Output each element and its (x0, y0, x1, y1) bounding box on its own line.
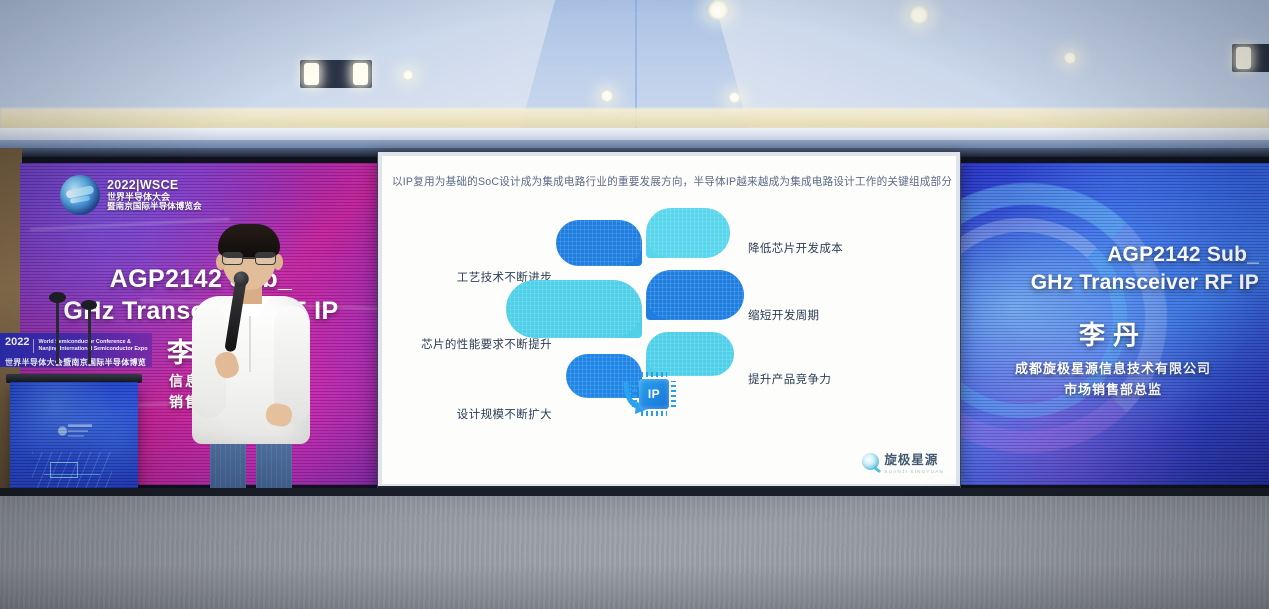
wsce-name-cn2: 暨南京国际半导体博览会 (107, 202, 202, 212)
chip-pins-left (632, 381, 637, 407)
right-banner-org: 成都旋极星源信息技术有限公司 市场销售部总监 (957, 359, 1269, 401)
microphone-stand-2 (88, 308, 91, 364)
led-panel-right: AGP2142 Sub_ GHz Transceiver RF IP 李丹 成都… (957, 163, 1269, 485)
chip-label: IP (639, 379, 669, 409)
ceiling (0, 0, 1269, 152)
leaf-shape-left-2 (506, 280, 642, 338)
stage-scene: 2022|WSCE 世界半导体大会 暨南京国际半导体博览会 AGP2142 Su… (0, 0, 1269, 609)
right-banner-org-line1: 成都旋极星源信息技术有限公司 (957, 359, 1269, 380)
right-banner-speaker-name: 李丹 (957, 315, 1269, 352)
podium-banner-en2: Nanjing International Semiconductor Expo (38, 346, 147, 352)
ceiling-downlight-2 (908, 6, 930, 24)
stage-floor (0, 496, 1269, 609)
microphone-stand-1 (56, 300, 59, 364)
wsce-logo-left: 2022|WSCE 世界半导体大会 暨南京国际半导体博览会 (60, 175, 202, 215)
slide-left-label-2: 芯片的性能要求不断提升 (421, 336, 552, 352)
podium-banner-cn: 世界半导体大会暨南京国际半导体博览会 (5, 358, 152, 367)
slide-canvas: 以IP复用为基础的SoC设计成为集成电路行业的重要发展方向，半导体IP越来越成为… (382, 156, 956, 484)
company-logo-icon (862, 453, 879, 470)
ceiling-downlight-4 (728, 92, 741, 103)
ceiling-downlight-1 (706, 0, 730, 20)
ceiling-downlight-6 (402, 70, 414, 80)
right-banner-title: AGP2142 Sub_ GHz Transceiver RF IP (967, 241, 1259, 297)
chip-pins-top (641, 372, 667, 377)
podium-chip-graphic (50, 462, 78, 478)
wsce-emblem-icon (60, 175, 100, 215)
chip-pins-right (671, 381, 676, 407)
slide-leaf-diagram (550, 214, 700, 414)
right-banner-org-line2: 市场销售部总监 (957, 380, 1269, 401)
podium-banner-year: 2022 (5, 336, 29, 350)
chip-pins-bottom (641, 411, 667, 416)
ceiling-downlight-3 (600, 90, 614, 102)
leaf-shape-right-3 (646, 332, 734, 376)
right-banner-title-line1: AGP2142 Sub_ (967, 241, 1259, 269)
right-banner-title-line2: GHz Transceiver RF IP (967, 269, 1259, 297)
presenter-shirt-placket (249, 316, 251, 372)
company-logo-name-cn: 旋极星源 (884, 449, 944, 468)
podium-top-banner: 2022World Semiconductor Conference &Nanj… (0, 333, 152, 367)
wsce-code: WSCE (140, 178, 179, 192)
slide-left-label-3: 设计规模不断扩大 (457, 406, 552, 422)
slide-company-logo: 旋极星源 XUANJI XINGYUAN (862, 449, 944, 474)
podium-banner-en1: World Semiconductor Conference & (38, 339, 130, 345)
slide-right-label-2: 缩短开发周期 (748, 307, 819, 323)
slide-right-label-1: 降低芯片开发成本 (748, 240, 843, 256)
ceiling-cove-light (0, 128, 1269, 140)
presenter-glasses (222, 252, 276, 265)
leaf-shape-right-1 (646, 208, 730, 258)
slide-right-label-3: 提升产品竞争力 (748, 371, 831, 387)
ceiling-light-fixture-right (1232, 44, 1269, 72)
ceiling-cove-warm (0, 108, 1269, 128)
company-logo-name-en: XUANJI XINGYUAN (884, 469, 944, 474)
ceiling-downlight-5 (1063, 52, 1077, 64)
ceiling-light-fixture-left (300, 60, 372, 88)
slide-headline: 以IP复用为基础的SoC设计成为集成电路行业的重要发展方向，半导体IP越来越成为… (392, 174, 946, 189)
ip-chip-icon: IP (632, 372, 676, 416)
podium-mini-logo (56, 422, 92, 440)
leaf-shape-right-2 (646, 270, 744, 320)
projection-screen: 以IP复用为基础的SoC设计成为集成电路行业的重要发展方向，半导体IP越来越成为… (378, 152, 960, 488)
leaf-shape-left-1 (556, 220, 642, 266)
wsce-year: 2022 (107, 178, 136, 192)
